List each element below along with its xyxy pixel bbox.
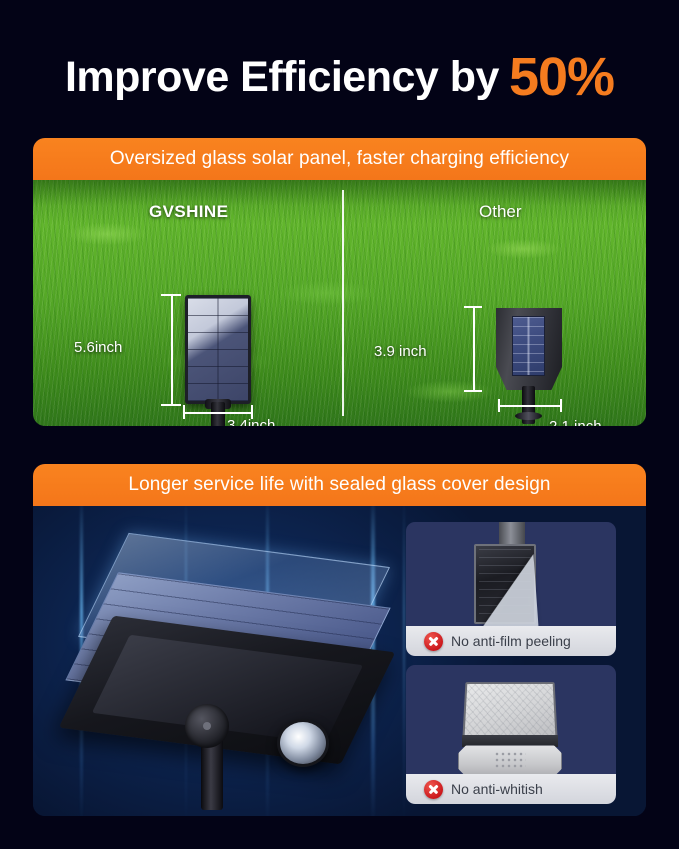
photo-led-array bbox=[494, 751, 526, 769]
peeling-film bbox=[476, 554, 539, 630]
inset-card-film-peeling: No anti-film peeling bbox=[406, 522, 616, 656]
measure-tick-right-width-end bbox=[560, 399, 562, 412]
measure-label-right-height: 3.9 inch bbox=[374, 343, 427, 360]
light-streak bbox=[403, 506, 405, 816]
grass-background: GVSHINE Other 5.6inch 3.4inch 3.9 inch 2… bbox=[33, 180, 646, 426]
comparison-banner-text: Oversized glass solar panel, faster char… bbox=[110, 148, 569, 170]
inset-caption-film-peeling: No anti-film peeling bbox=[406, 626, 616, 656]
headline-main-text: Improve Efficiency by bbox=[65, 53, 499, 102]
inset-caption-whitish: No anti-whitish bbox=[406, 774, 616, 804]
photo-whitish-panel-top bbox=[462, 682, 557, 738]
measure-line-left-height bbox=[171, 294, 173, 406]
inset-card-whitish: No anti-whitish bbox=[406, 665, 616, 804]
red-x-icon bbox=[424, 780, 443, 799]
measure-line-right-width bbox=[498, 405, 562, 407]
lamp-head bbox=[277, 719, 329, 767]
gvshine-solar-panel bbox=[185, 295, 251, 404]
headline-accent-text: 50% bbox=[509, 53, 614, 102]
comparison-section: Oversized glass solar panel, faster char… bbox=[33, 138, 646, 426]
photo-pole bbox=[499, 522, 525, 546]
other-panel-cells bbox=[512, 316, 545, 376]
measure-tick-right-height-top bbox=[464, 306, 482, 308]
measure-label-left-width: 3.4inch bbox=[227, 417, 275, 426]
gvshine-pole bbox=[211, 402, 225, 426]
measure-tick-left-height-bottom bbox=[161, 404, 181, 406]
measure-line-left-width bbox=[183, 412, 253, 414]
durability-banner-text: Longer service life with sealed glass co… bbox=[128, 474, 550, 496]
gvshine-panel-cells bbox=[188, 298, 248, 401]
brand-label-other: Other bbox=[479, 202, 522, 222]
inset-caption-text: No anti-whitish bbox=[451, 781, 543, 797]
inset-caption-text: No anti-film peeling bbox=[451, 633, 571, 649]
measure-tick-left-height-top bbox=[161, 294, 181, 296]
measure-tick-left-width-start bbox=[183, 405, 185, 419]
measure-label-right-width: 2.1 inch bbox=[549, 418, 602, 426]
comparison-banner: Oversized glass solar panel, faster char… bbox=[33, 138, 646, 180]
measure-tick-right-width-start bbox=[498, 399, 500, 412]
grass-top-shadow bbox=[33, 180, 646, 206]
vertical-divider bbox=[342, 190, 344, 416]
measure-tick-right-height-bottom bbox=[464, 390, 482, 392]
other-pole-ring bbox=[515, 412, 542, 420]
durability-banner: Longer service life with sealed glass co… bbox=[33, 464, 646, 506]
hinge-knob bbox=[185, 704, 229, 748]
measure-label-left-height: 5.6inch bbox=[74, 339, 122, 356]
measure-line-right-height bbox=[473, 306, 475, 392]
page-headline: Improve Efficiency by 50% bbox=[0, 46, 679, 108]
brand-label-gvshine: GVSHINE bbox=[149, 202, 228, 222]
red-x-icon bbox=[424, 632, 443, 651]
